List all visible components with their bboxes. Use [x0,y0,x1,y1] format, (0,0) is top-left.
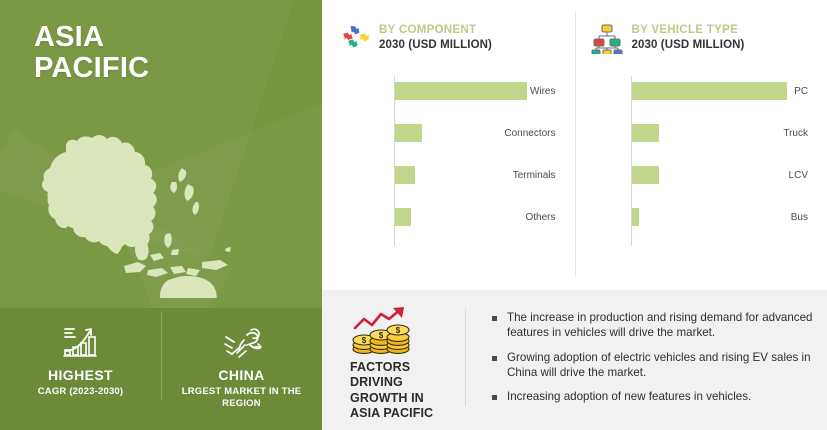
chart-title: BY VEHICLE TYPE [632,23,745,37]
growth-bar-chart-arrow-icon [0,322,161,362]
chart-panel-by-component: BY COMPONENT 2030 (USD MILLION) Wires Co… [322,0,575,290]
stat-block-highest-cagr: HIGHEST CAGR (2023-2030) [0,308,161,398]
chart-header-text: BY COMPONENT 2030 (USD MILLION) [379,23,492,52]
bullet-square-icon [492,395,497,400]
svg-text:$: $ [362,336,367,345]
puzzle-pieces-icon [338,22,370,54]
bullet-text: Growing adoption of electric vehicles an… [507,350,813,381]
asia-pacific-map-icon [30,98,298,298]
bar [395,166,415,184]
infographic-root: ASIA PACIFIC [0,0,827,430]
bar-row: Bus [585,208,816,226]
bullet-text: The increase in production and rising de… [507,310,813,341]
list-item: The increase in production and rising de… [492,310,813,341]
stat-title: CHINA [161,367,322,383]
drivers-bullet-list: The increase in production and rising de… [466,306,813,413]
bar [632,166,659,184]
stat-title: HIGHEST [0,367,161,383]
bar-row: Terminals [332,166,563,184]
bar-label: LCV [769,170,815,181]
stat-subtitle: LRGEST MARKET IN THE REGION [161,386,322,410]
stat-block-china-market: CHINA LRGEST MARKET IN THE REGION [161,308,322,410]
bullet-square-icon [492,356,497,361]
bar-row: Truck [585,124,816,142]
chart-subtitle: 2030 (USD MILLION) [379,38,492,53]
bar-row: Connectors [332,124,563,142]
bar [632,82,787,100]
bar-row: PC [585,82,816,100]
stat-subtitle: CAGR (2023-2030) [0,386,161,398]
bar-row: LCV [585,166,816,184]
charts-area: BY COMPONENT 2030 (USD MILLION) Wires Co… [322,0,827,290]
bar-chart-by-component: Wires Connectors Terminals Others [332,76,563,238]
bar [395,124,422,142]
chart-title: BY COMPONENT [379,23,492,37]
bullet-text: Increasing adoption of new features in v… [507,389,751,404]
bar-chart-by-vehicle-type: PC Truck LCV Bus [585,76,816,238]
drivers-heading-block: $ $ [338,306,466,421]
chart-header: BY COMPONENT 2030 (USD MILLION) [332,16,563,60]
bar [632,208,639,226]
region-title: ASIA PACIFIC [34,22,149,83]
bar [632,124,659,142]
bar [395,82,527,100]
bar-row: Wires [332,82,563,100]
list-item: Increasing adoption of new features in v… [492,389,813,404]
bar-row: Others [332,208,563,226]
svg-text:$: $ [379,331,384,340]
chart-header-text: BY VEHICLE TYPE 2030 (USD MILLION) [632,23,745,52]
coin-stacks-growth-arrow-icon: $ $ [350,306,412,354]
bar-label: Terminals [501,170,563,181]
bar-label: Others [501,212,563,223]
map-panel: ASIA PACIFIC [0,0,322,308]
chart-subtitle: 2030 (USD MILLION) [632,38,745,53]
bar-label: Truck [769,128,815,139]
bar-label: Connectors [501,128,563,139]
chart-panel-by-vehicle-type: BY VEHICLE TYPE 2030 (USD MILLION) PC Tr… [575,0,827,290]
bar-label: Bus [769,212,815,223]
region-panel: ASIA PACIFIC [0,0,322,430]
list-item: Growing adoption of electric vehicles an… [492,350,813,381]
bullet-square-icon [492,316,497,321]
org-chart-hierarchy-icon [591,22,623,54]
chart-header: BY VEHICLE TYPE 2030 (USD MILLION) [585,16,816,60]
content-region: BY COMPONENT 2030 (USD MILLION) Wires Co… [322,0,827,430]
region-stats-panel: HIGHEST CAGR (2023-2030) [0,308,322,430]
bar [395,208,411,226]
rocket-superhero-icon [161,322,322,362]
growth-drivers-panel: $ $ [322,290,827,430]
drivers-title: FACTORS DRIVING GROWTH IN ASIA PACIFIC [350,360,456,421]
svg-text:$: $ [396,326,401,335]
